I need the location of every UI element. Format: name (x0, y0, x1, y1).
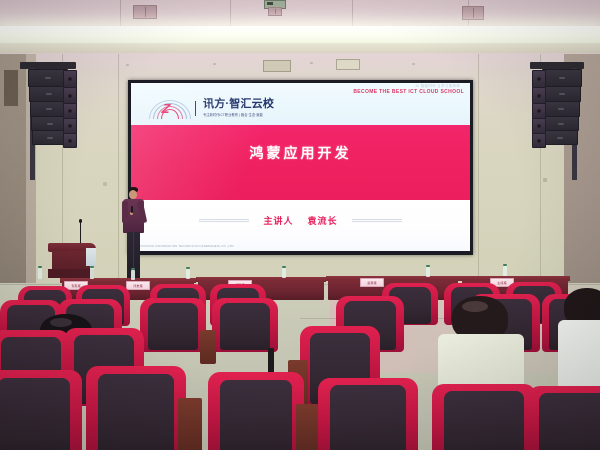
ceiling-seam (352, 0, 353, 28)
wall-outlet (103, 182, 107, 186)
wall-panel-small (336, 59, 360, 70)
water-bottle (90, 268, 94, 279)
auditorium-seat (0, 370, 82, 450)
auditorium-seat (528, 386, 600, 450)
logo-divider (195, 101, 196, 116)
lecture-hall-photo: AI 智能时代 让学习更简单 BECOME THE BEST ICT CLOUD… (0, 0, 600, 450)
water-bottle (503, 266, 507, 276)
logo-arcs-icon: Z (149, 97, 191, 119)
ceiling-mount-plate (268, 7, 282, 16)
auditorium-seat (212, 298, 278, 352)
line-array-speaker-right (518, 62, 588, 192)
logo-title: 讯方·智汇云校 (203, 99, 274, 111)
ceiling-vent-icon (133, 5, 157, 19)
auditorium-seat (140, 298, 206, 352)
wall-upper-strip (0, 53, 600, 75)
slide-tagline: BECOME THE BEST ICT CLOUD SCHOOL (353, 89, 464, 95)
wall-vent-icon (263, 60, 291, 72)
podium-microphone-icon (79, 219, 82, 223)
seat-armrest (296, 404, 318, 450)
ceiling-light-strip (0, 26, 600, 44)
line-array-speaker-left (18, 62, 88, 192)
ceiling-vent-icon (462, 6, 484, 20)
auditorium-seat (208, 372, 304, 450)
wall-blemish (126, 64, 129, 66)
slide-title-band: 鸿蒙应用开发 (131, 125, 470, 200)
podium-body (52, 251, 90, 271)
podium-side-panel (86, 248, 96, 266)
logo-subtitle: 专注新时代ICT职业教育 | 融合·生态·赋能 (203, 112, 274, 117)
wall-blemish (213, 63, 216, 65)
deco-line-right (352, 219, 402, 223)
podium-base (48, 269, 94, 278)
water-bottle (282, 268, 286, 278)
water-bottle (38, 268, 42, 279)
auditorium-seat (318, 378, 418, 450)
ceiling (0, 0, 600, 28)
auditorium-seat (86, 366, 186, 450)
podium-microphone-stem (80, 222, 81, 244)
wall-recess-left (4, 70, 18, 106)
presenter-name: 袁流长 (308, 214, 338, 227)
slide-copyright-footer: XUNFANG INFORMATION TECHNOLOGY(SHENZHEN)… (139, 244, 234, 248)
ceiling-seam (120, 0, 121, 28)
wall-panel-line (478, 54, 479, 282)
water-bottle (426, 267, 430, 277)
ceiling-seam (230, 0, 231, 28)
projector-lens-icon (267, 2, 273, 5)
water-bottle (186, 269, 190, 279)
slide-footer-area: 主讲人 袁流长 XUNFANG INFORMATION TECHNOLOGY(S… (131, 200, 470, 251)
deco-line-left (199, 219, 249, 223)
name-placard: 嘉宾席 (360, 278, 384, 287)
slide-header-area: AI 智能时代 让学习更简单 BECOME THE BEST ICT CLOUD… (131, 83, 470, 125)
presenter-row: 主讲人 袁流长 (131, 214, 470, 227)
seat-armrest (200, 330, 216, 364)
projection-screen: AI 智能时代 让学习更简单 BECOME THE BEST ICT CLOUD… (131, 83, 470, 251)
brand-logo: Z 讯方·智汇云校 专注新时代ICT职业教育 | 融合·生态·赋能 (149, 97, 274, 119)
water-bottle (131, 270, 135, 280)
auditorium-seat (432, 384, 536, 450)
slide-title: 鸿蒙应用开发 (131, 143, 470, 163)
presenter-label: 主讲人 (263, 214, 293, 227)
seat-armrest (178, 398, 202, 450)
wall-blemish (412, 63, 415, 65)
wall-blemish (310, 62, 313, 64)
